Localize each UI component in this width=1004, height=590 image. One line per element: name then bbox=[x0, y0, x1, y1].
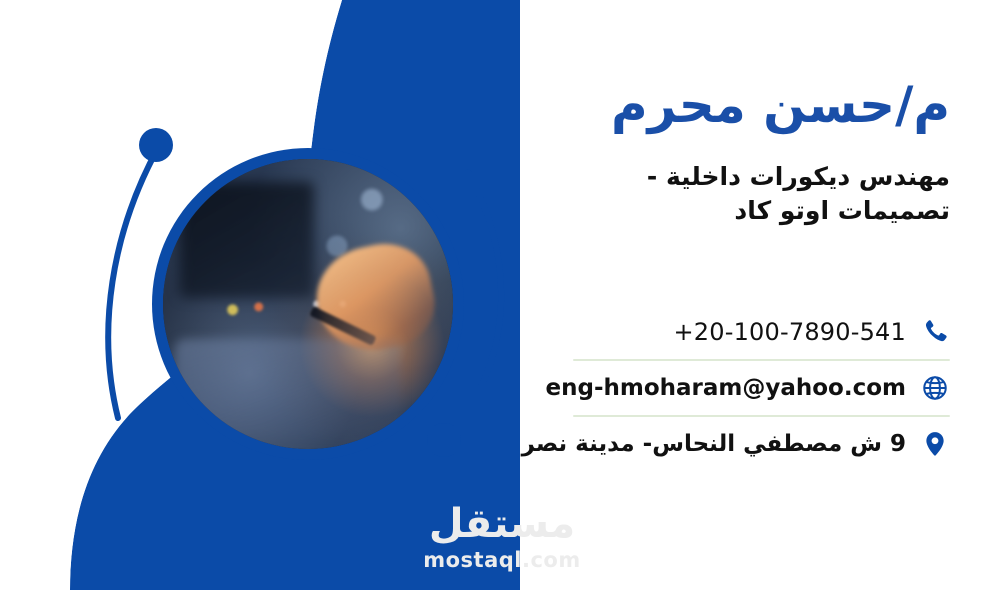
contact-row-email[interactable]: eng-hmoharam@yahoo.com bbox=[450, 361, 950, 415]
street-address: 9 ش مصطفي النحاس- مدينة نصر bbox=[522, 431, 906, 457]
phone-icon bbox=[920, 317, 950, 347]
business-card: م/حسن محرم مهندس ديكورات داخلية - تصميما… bbox=[0, 0, 1004, 590]
card-content: م/حسن محرم مهندس ديكورات داخلية - تصميما… bbox=[450, 0, 950, 590]
contact-row-address[interactable]: 9 ش مصطفي النحاس- مدينة نصر bbox=[450, 417, 950, 471]
contact-list: +20-100-7890-541 eng-hmoharam@yahoo.com bbox=[450, 305, 950, 471]
profile-photo bbox=[163, 159, 453, 449]
person-name: م/حسن محرم bbox=[450, 78, 950, 132]
contact-row-phone[interactable]: +20-100-7890-541 bbox=[450, 305, 950, 359]
decorative-arc-top-left bbox=[108, 148, 158, 418]
job-title-line-1: مهندس ديكورات داخلية - bbox=[450, 160, 950, 194]
job-title-line-2: تصميمات اوتو كاد bbox=[450, 194, 950, 228]
globe-icon bbox=[920, 373, 950, 403]
location-pin-icon bbox=[920, 429, 950, 459]
decorative-dot-top-left bbox=[139, 128, 173, 162]
email-address: eng-hmoharam@yahoo.com bbox=[546, 375, 906, 401]
phone-number: +20-100-7890-541 bbox=[673, 318, 906, 346]
job-title: مهندس ديكورات داخلية - تصميمات اوتو كاد bbox=[450, 160, 950, 228]
